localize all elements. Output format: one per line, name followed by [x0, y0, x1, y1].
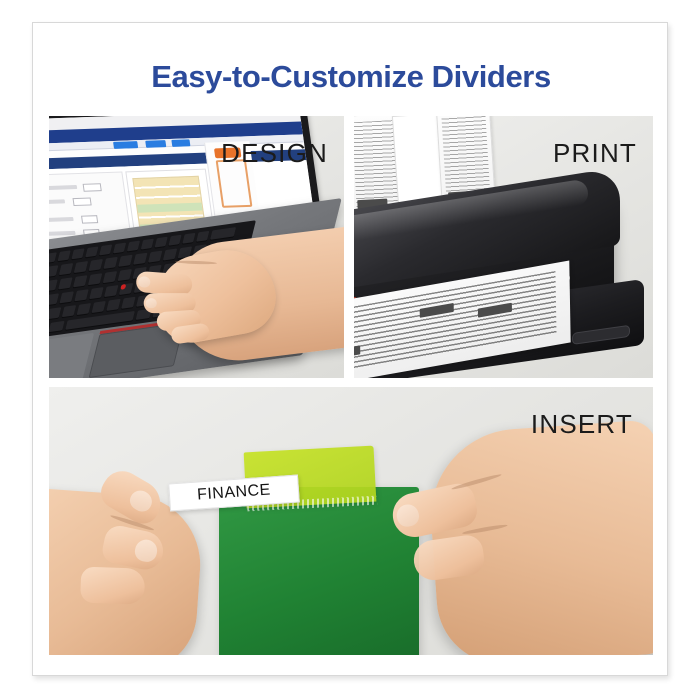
- thumbnail: [395, 502, 421, 528]
- tray-handle[interactable]: [572, 325, 630, 345]
- form-input[interactable]: [83, 183, 102, 192]
- green-divider-sheet: [219, 487, 419, 655]
- index-finger: [136, 271, 193, 296]
- toolbar-button[interactable]: [113, 141, 138, 149]
- toolbar-button[interactable]: [145, 140, 166, 148]
- panel-label-insert: INSERT: [531, 409, 633, 440]
- panel-print: PRINT: [354, 116, 653, 378]
- left-index-finger: [100, 523, 167, 573]
- content-card: Easy-to-Customize Dividers: [32, 22, 668, 676]
- form-input[interactable]: [81, 215, 98, 223]
- product-feature-image: Easy-to-Customize Dividers: [0, 0, 700, 700]
- panel-insert: FINANCE INSERT: [49, 387, 653, 655]
- right-index-finger: [411, 533, 486, 582]
- fingernail: [146, 298, 157, 308]
- thumbnail: [127, 487, 156, 515]
- left-middle-finger: [80, 567, 145, 605]
- laptop-palmrest: [49, 333, 94, 378]
- panel-label-design: DESIGN: [221, 138, 328, 169]
- left-hand: [49, 487, 205, 655]
- toolbar-button[interactable]: [171, 139, 190, 147]
- knuckle-crease: [175, 260, 217, 264]
- panel-design: DESIGN: [49, 116, 344, 378]
- right-hand: [425, 419, 653, 655]
- fingernail: [133, 538, 159, 564]
- template-row-highlight: [137, 203, 202, 213]
- knuckle-crease: [451, 473, 502, 491]
- page-title: Easy-to-Customize Dividers: [33, 59, 669, 95]
- knuckle-crease: [462, 523, 508, 535]
- label-strip-text: FINANCE: [197, 481, 272, 504]
- form-input[interactable]: [72, 197, 91, 206]
- panel-label-print: PRINT: [553, 138, 637, 169]
- fingernail: [138, 276, 151, 288]
